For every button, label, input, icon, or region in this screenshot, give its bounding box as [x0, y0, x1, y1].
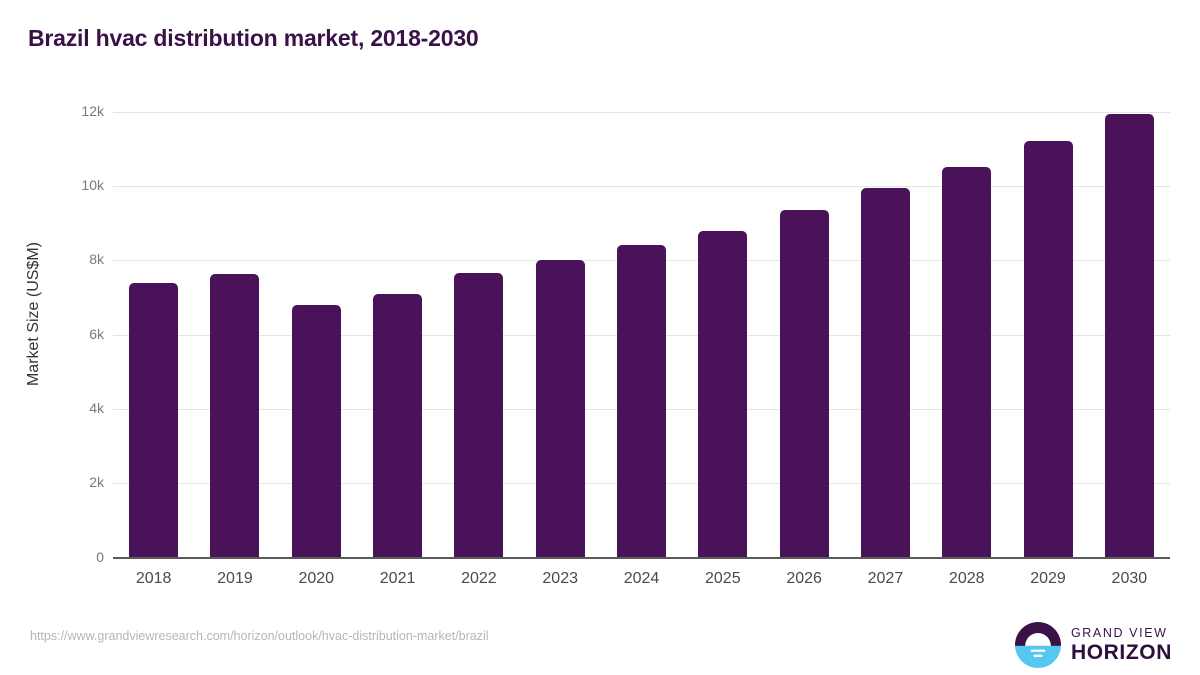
x-tick-label: 2023 [519, 570, 601, 588]
x-tick-label: 2019 [194, 570, 276, 588]
brand-logo[interactable]: GRAND VIEW HORIZON [1015, 620, 1172, 670]
x-tick-label: 2029 [1007, 570, 1089, 588]
page-title: Brazil hvac distribution market, 2018-20… [28, 25, 479, 52]
x-tick-label: 2027 [844, 570, 926, 588]
bar-2025[interactable] [698, 231, 747, 558]
y-tick-label: 10k [62, 177, 104, 193]
y-tick-label: 4k [62, 400, 104, 416]
x-tick-label: 2024 [601, 570, 683, 588]
horizon-sun-circle-icon [1015, 622, 1061, 668]
gridline [113, 112, 1170, 113]
y-tick-label: 8k [62, 251, 104, 267]
y-tick-label: 2k [62, 474, 104, 490]
x-tick-label: 2018 [113, 570, 195, 588]
x-tick-label: 2028 [926, 570, 1008, 588]
y-tick-label: 0 [62, 549, 104, 565]
source-url[interactable]: https://www.grandviewresearch.com/horizo… [30, 629, 489, 643]
y-axis-title: Market Size (US$M) [25, 104, 43, 524]
x-tick-label: 2025 [682, 570, 764, 588]
x-tick-label: 2030 [1088, 570, 1170, 588]
bar-2021[interactable] [373, 294, 422, 558]
y-tick-label: 12k [62, 103, 104, 119]
bar-2022[interactable] [454, 273, 503, 557]
gridline [113, 186, 1170, 187]
bar-2023[interactable] [536, 260, 585, 557]
bar-2027[interactable] [861, 188, 910, 558]
x-tick-label: 2021 [357, 570, 439, 588]
brand-wordmark: GRAND VIEW HORIZON [1071, 627, 1172, 664]
chart-page: Brazil hvac distribution market, 2018-20… [0, 0, 1200, 675]
bar-2020[interactable] [292, 305, 341, 558]
bar-2030[interactable] [1105, 114, 1154, 558]
x-tick-label: 2020 [275, 570, 357, 588]
x-tick-label: 2022 [438, 570, 520, 588]
bar-2018[interactable] [129, 283, 178, 558]
x-axis-line [113, 557, 1170, 559]
bar-2019[interactable] [210, 274, 259, 557]
bar-2028[interactable] [942, 167, 991, 557]
brand-line-1: GRAND VIEW [1071, 627, 1172, 640]
brand-line-2: HORIZON [1071, 642, 1172, 663]
bar-2024[interactable] [617, 245, 666, 557]
bar-2029[interactable] [1024, 141, 1073, 557]
x-tick-label: 2026 [763, 570, 845, 588]
y-tick-label: 6k [62, 326, 104, 342]
bar-2026[interactable] [780, 210, 829, 557]
